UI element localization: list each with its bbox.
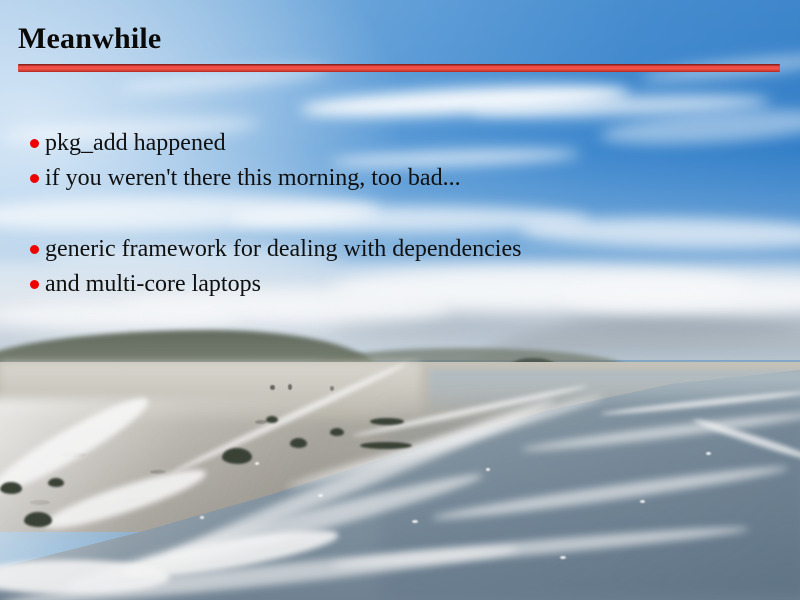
bullet-dot-icon: [30, 174, 39, 183]
bullet-list: pkg_add happened if you weren't there th…: [30, 128, 770, 304]
bullet-dot-icon: [30, 245, 39, 254]
title-underline-rule: [18, 64, 780, 72]
bullet-text: pkg_add happened: [45, 128, 226, 159]
bullet-spacer: [30, 198, 770, 234]
bullet-text: if you weren't there this morning, too b…: [45, 163, 461, 194]
bullet-item: and multi-core laptops: [30, 269, 770, 304]
bullet-item: if you weren't there this morning, too b…: [30, 163, 770, 198]
bullet-item: generic framework for dealing with depen…: [30, 234, 770, 269]
presentation-slide: Meanwhile pkg_add happened if you weren'…: [0, 0, 800, 600]
bullet-text: generic framework for dealing with depen…: [45, 234, 521, 265]
slide-title: Meanwhile: [18, 22, 161, 56]
bullet-dot-icon: [30, 139, 39, 148]
slide-content: Meanwhile pkg_add happened if you weren'…: [0, 0, 800, 600]
bullet-text: and multi-core laptops: [45, 269, 261, 300]
bullet-item: pkg_add happened: [30, 128, 770, 163]
bullet-dot-icon: [30, 280, 39, 289]
